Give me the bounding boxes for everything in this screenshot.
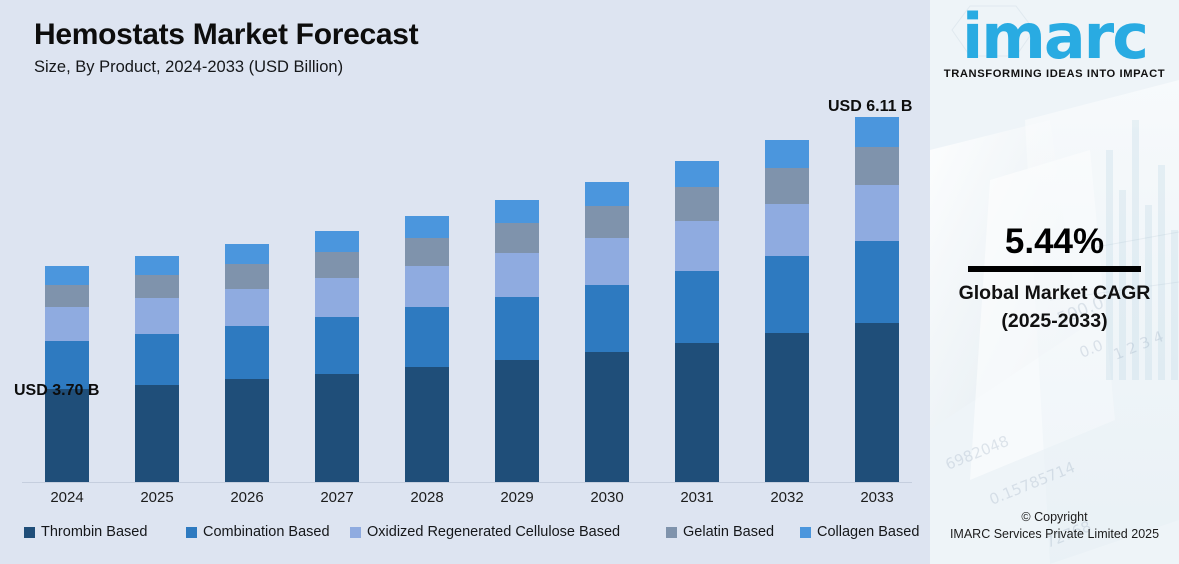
legend-swatch-icon [800, 527, 811, 538]
bar-segment[interactable] [45, 389, 89, 482]
legend-item-2[interactable]: Oxidized Regenerated Cellulose Based [350, 524, 620, 540]
bar-segment[interactable] [495, 253, 539, 297]
x-tick-2029: 2029 [487, 489, 547, 506]
legend-item-0[interactable]: Thrombin Based [24, 524, 147, 540]
bar-2032[interactable] [765, 140, 809, 482]
imarc-wordmark: imarc [930, 8, 1179, 67]
bar-segment[interactable] [765, 168, 809, 204]
bar-segment[interactable] [405, 367, 449, 482]
cagr-label-line2: (2025-2033) [930, 310, 1179, 333]
bar-segment[interactable] [855, 117, 899, 147]
bar-segment[interactable] [585, 206, 629, 237]
bar-segment[interactable] [495, 360, 539, 482]
callout-last-value: USD 6.11 B [828, 98, 912, 116]
cagr-divider [968, 266, 1141, 272]
x-axis-tick-labels: 2024202520262027202820292030203120322033 [0, 486, 930, 516]
bar-segment[interactable] [495, 297, 539, 361]
bar-segment[interactable] [855, 323, 899, 482]
x-tick-2028: 2028 [397, 489, 457, 506]
bar-segment[interactable] [855, 147, 899, 185]
bar-segment[interactable] [405, 266, 449, 307]
bar-segment[interactable] [135, 256, 179, 275]
bar-2031[interactable] [675, 161, 719, 482]
legend-swatch-icon [186, 527, 197, 538]
x-axis-line [22, 482, 912, 483]
bar-segment[interactable] [225, 244, 269, 264]
x-tick-2030: 2030 [577, 489, 637, 506]
x-tick-2025: 2025 [127, 489, 187, 506]
bar-segment[interactable] [495, 223, 539, 253]
bar-segment[interactable] [135, 385, 179, 482]
bar-segment[interactable] [135, 275, 179, 299]
x-tick-2027: 2027 [307, 489, 367, 506]
copyright-line2: IMARC Services Private Limited 2025 [930, 527, 1179, 541]
cagr-label-line1: Global Market CAGR [930, 282, 1179, 305]
callout-first-value: USD 3.70 B [14, 382, 99, 400]
imarc-tagline: TRANSFORMING IDEAS INTO IMPACT [930, 68, 1179, 80]
bar-segment[interactable] [855, 185, 899, 241]
legend-item-4[interactable]: Collagen Based [800, 524, 919, 540]
chart-legend: Thrombin BasedCombination BasedOxidized … [0, 524, 930, 552]
bar-segment[interactable] [765, 204, 809, 256]
bar-2025[interactable] [135, 256, 179, 482]
bar-segment[interactable] [45, 266, 89, 284]
bar-2027[interactable] [315, 231, 359, 482]
bar-segment[interactable] [315, 231, 359, 252]
bar-segment[interactable] [315, 317, 359, 374]
bar-segment[interactable] [675, 271, 719, 343]
legend-swatch-icon [666, 527, 677, 538]
x-tick-2032: 2032 [757, 489, 817, 506]
bar-segment[interactable] [405, 238, 449, 266]
imarc-logo: imarc TRANSFORMING IDEAS INTO IMPACT [930, 8, 1179, 80]
bar-2024[interactable] [45, 266, 89, 482]
bar-segment[interactable] [135, 298, 179, 334]
bar-segment[interactable] [765, 333, 809, 482]
legend-label: Collagen Based [817, 524, 919, 540]
bar-segment[interactable] [495, 200, 539, 223]
bar-segment[interactable] [855, 241, 899, 323]
bar-segment[interactable] [315, 374, 359, 482]
chart-screenshot: Hemostats Market Forecast Size, By Produ… [0, 0, 1179, 564]
legend-swatch-icon [350, 527, 361, 538]
legend-label: Combination Based [203, 524, 330, 540]
bar-2026[interactable] [225, 244, 269, 482]
legend-swatch-icon [24, 527, 35, 538]
x-tick-2033: 2033 [847, 489, 907, 506]
x-tick-2026: 2026 [217, 489, 277, 506]
bar-segment[interactable] [585, 182, 629, 206]
legend-label: Oxidized Regenerated Cellulose Based [367, 524, 620, 540]
brand-panel: 500.0 0.0 1 2 3 4 6982048 0.15785714 727… [930, 0, 1179, 564]
bar-segment[interactable] [225, 264, 269, 289]
bar-segment[interactable] [405, 307, 449, 367]
bar-2028[interactable] [405, 216, 449, 482]
bar-2033[interactable] [855, 117, 899, 482]
cagr-value: 5.44% [930, 222, 1179, 262]
copyright-line1: © Copyright [930, 510, 1179, 524]
bar-segment[interactable] [585, 285, 629, 353]
bar-segment[interactable] [765, 256, 809, 333]
bar-segment[interactable] [135, 334, 179, 385]
bar-segment[interactable] [315, 252, 359, 278]
bar-segment[interactable] [675, 187, 719, 221]
legend-label: Thrombin Based [41, 524, 147, 540]
bar-segment[interactable] [675, 161, 719, 187]
legend-item-3[interactable]: Gelatin Based [666, 524, 774, 540]
bar-segment[interactable] [45, 285, 89, 308]
legend-label: Gelatin Based [683, 524, 774, 540]
bar-2030[interactable] [585, 182, 629, 482]
bar-segment[interactable] [675, 221, 719, 271]
bar-segment[interactable] [585, 352, 629, 482]
bar-segment[interactable] [225, 326, 269, 380]
bar-segment[interactable] [45, 307, 89, 341]
bar-2029[interactable] [495, 200, 539, 482]
bar-segment[interactable] [225, 379, 269, 482]
bar-segment[interactable] [405, 216, 449, 238]
bar-segment[interactable] [225, 289, 269, 326]
bar-segment[interactable] [765, 140, 809, 168]
bar-segment[interactable] [315, 278, 359, 317]
chart-panel: Hemostats Market Forecast Size, By Produ… [0, 0, 930, 564]
plot-area [0, 0, 930, 482]
x-tick-2031: 2031 [667, 489, 727, 506]
x-tick-2024: 2024 [37, 489, 97, 506]
bar-segment[interactable] [585, 238, 629, 285]
bar-segment[interactable] [675, 343, 719, 482]
legend-item-1[interactable]: Combination Based [186, 524, 330, 540]
